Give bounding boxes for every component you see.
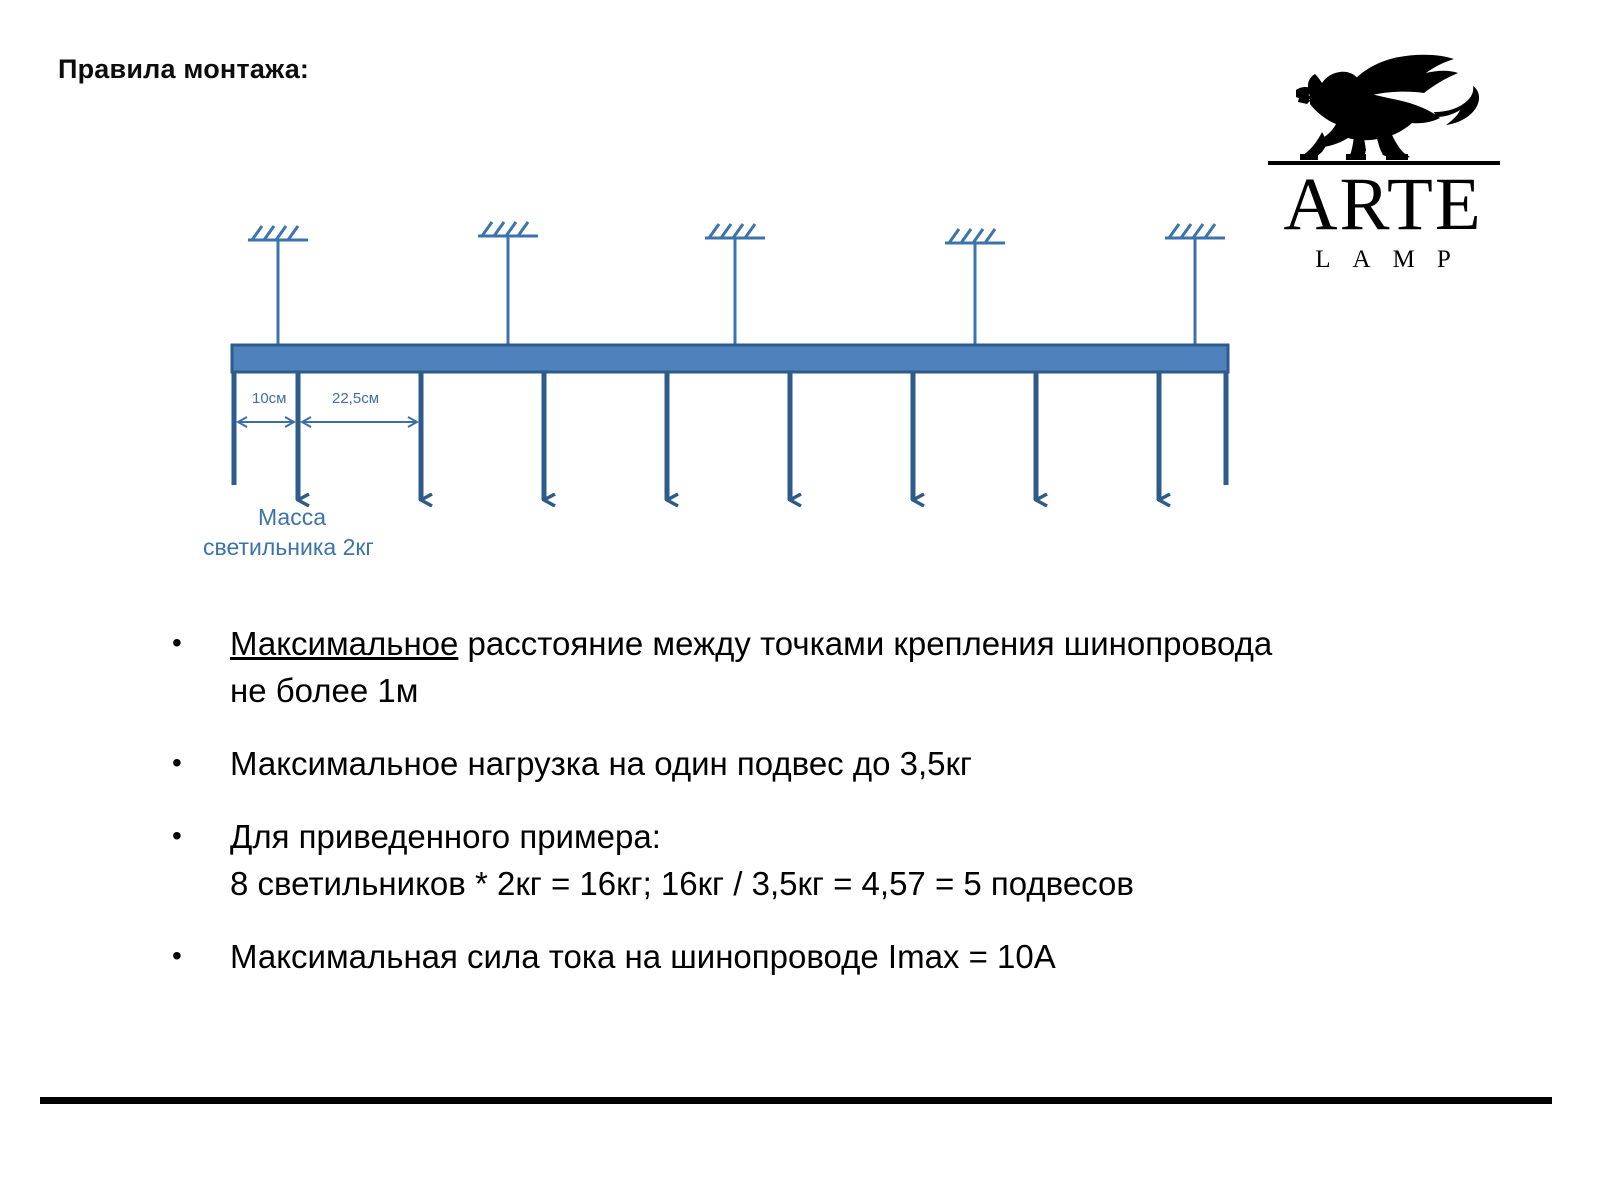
bullet-underlined-word: Максимальное (230, 625, 458, 662)
ceiling-mount-icon (705, 224, 765, 350)
list-item: • Максимальное нагрузка на один подвес д… (160, 740, 1460, 787)
ceiling-mount-icon (248, 226, 308, 350)
dimension-22-5cm-label: 22,5см (332, 390, 379, 407)
bullet-text: Для приведенного примера: 8 светильников… (230, 813, 1460, 907)
page-title: Правила монтажа: (58, 54, 309, 85)
winged-lion-icon (1258, 48, 1508, 178)
dimension-10cm: 10см (238, 390, 294, 422)
bullet-line1: Максимальное нагрузка на один подвес до … (230, 745, 972, 782)
ceiling-mount-icon (945, 229, 1005, 350)
list-item: • Максимальное расстояние между точками … (160, 620, 1460, 714)
ceiling-mount-icon (478, 222, 538, 350)
dimension-10cm-label: 10см (252, 390, 287, 407)
lamp-mass-label-line2: светильника 2кг (203, 534, 374, 560)
bullet-line1: Для приведенного примера: (230, 818, 661, 855)
bullet-marker: • (160, 813, 230, 859)
list-item: • Максимальная сила тока на шинопроводе … (160, 933, 1460, 980)
bullet-line1: Максимальная сила тока на шинопроводе Im… (230, 938, 1056, 975)
ceiling-mount-group (248, 222, 1225, 350)
bullet-marker: • (160, 740, 230, 786)
dimension-22-5cm: 22,5см (302, 390, 417, 422)
bullet-marker: • (160, 620, 230, 666)
busbar-track (232, 345, 1228, 372)
footer-divider (40, 1097, 1552, 1104)
lamp-mass-label-line1: Масса (258, 504, 326, 530)
bullet-list: • Максимальное расстояние между точками … (160, 620, 1460, 1006)
list-item: • Для приведенного примера: 8 светильник… (160, 813, 1460, 907)
bullet-marker: • (160, 933, 230, 979)
bullet-line2: не более 1м (230, 667, 1460, 714)
track-mounting-diagram: 10см 22,5см Масса светильника 2кг (0, 200, 1300, 600)
bullet-text: Максимальное нагрузка на один подвес до … (230, 740, 1460, 787)
bullet-text: Максимальная сила тока на шинопроводе Im… (230, 933, 1460, 980)
lamp-drop-group (298, 372, 1159, 500)
bullet-text: Максимальное расстояние между точками кр… (230, 620, 1460, 714)
ceiling-mount-icon (1165, 224, 1225, 350)
bullet-line2: 8 светильников * 2кг = 16кг; 16кг / 3,5к… (230, 860, 1460, 907)
bullet-line1-rest: расстояние между точками крепления шиноп… (458, 625, 1272, 662)
